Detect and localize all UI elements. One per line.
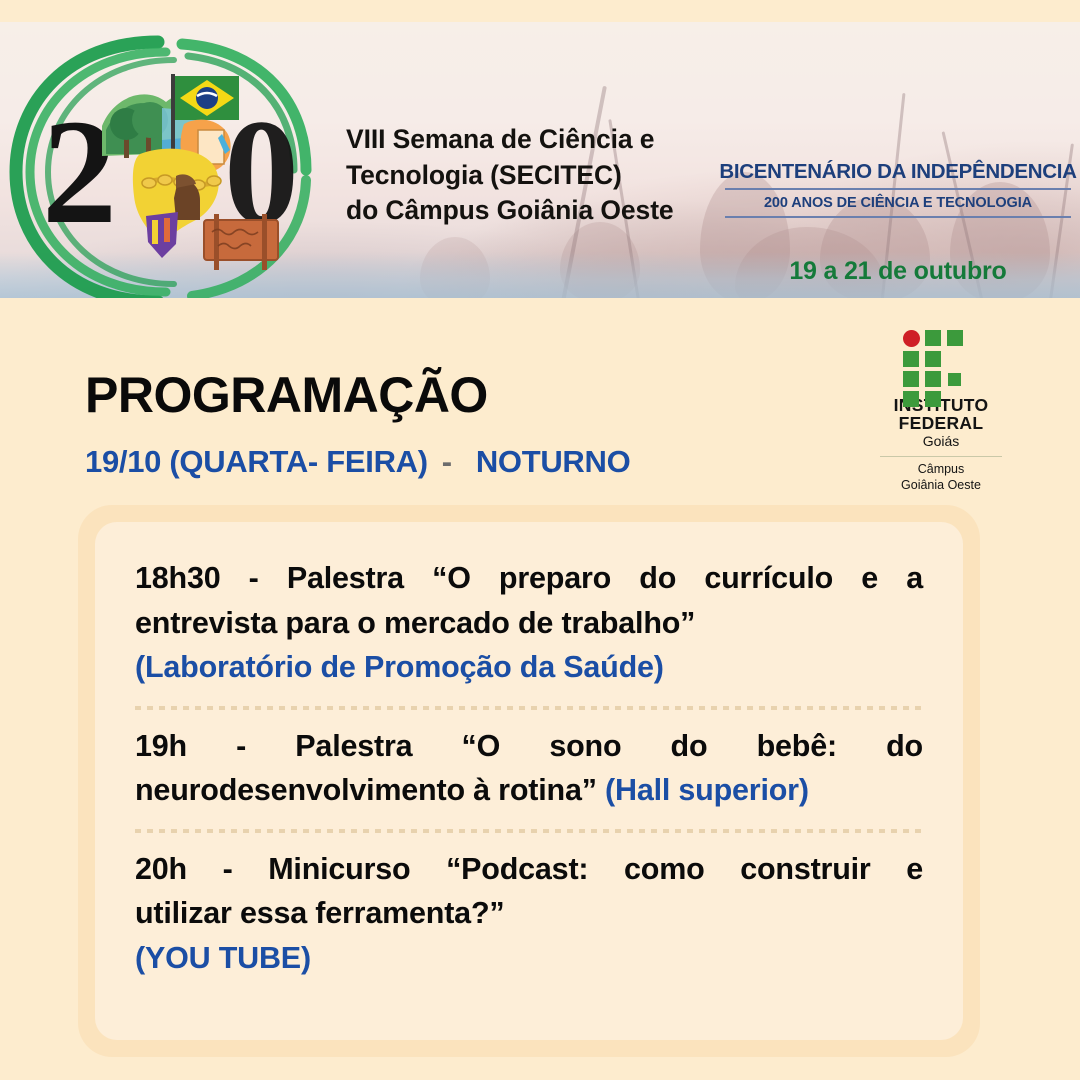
event-title: VIII Semana de Ciência e Tecnologia (SEC… (346, 122, 718, 229)
event-title-line-1: VIII Semana de Ciência e (346, 122, 718, 158)
schedule-entry-location: (Hall superior) (605, 773, 809, 807)
if-logo-campus-line-1: Câmpus (876, 461, 1006, 477)
schedule-entry-location: (Laboratório de Promoção da Saúde) (135, 645, 923, 690)
if-logo-square (925, 351, 941, 367)
schedule-day-subtitle: 19/10 (QUARTA- FEIRA)-NOTURNO (85, 444, 630, 480)
bicentennial-subline: 200 ANOS DE CIÊNCIA E TECNOLOGIA (713, 195, 1080, 211)
subtitle-date: 19/10 (QUARTA- FEIRA) (85, 444, 428, 479)
if-logo-square (903, 371, 919, 387)
event-date-range: 19 a 21 de outubro (713, 257, 1080, 286)
subtitle-period: NOTURNO (466, 444, 631, 479)
schedule-entry-main-line: 20h - Minicurso “Podcast: como construir… (135, 847, 923, 892)
schedule-entry[interactable]: 20h - Minicurso “Podcast: como construir… (135, 847, 923, 981)
schedule-card: 18h30 - Palestra “O preparo do currículo… (78, 505, 980, 1057)
schedule-entry-second-line: entrevista para o mercado de trabalho” (135, 601, 923, 646)
if-logo-square (925, 391, 941, 407)
schedule-entry-location: (YOU TUBE) (135, 936, 923, 981)
if-logo-square (925, 371, 941, 387)
schedule-entry-main-line: 19h - Palestra “O sono do bebê: do (135, 724, 923, 769)
schedule-entry-second-line: neurodesenvolvimento à rotina” (Hall sup… (135, 768, 923, 813)
schedule-divider (135, 706, 923, 710)
event-title-line-3: do Câmpus Goiânia Oeste (346, 193, 718, 229)
top-cream-strip (0, 0, 1080, 22)
if-logo-mark (903, 330, 979, 388)
if-logo-name-line-1: INSTITUTO (876, 396, 1006, 414)
bicentennial-block: BICENTENÁRIO DA INDEPÊNDENCIA 200 ANOS D… (713, 160, 1080, 218)
header-banner: 2 0 (0, 22, 1080, 298)
if-logo-state: Goiás (876, 433, 1006, 451)
if-logo-divider (880, 456, 1002, 458)
svg-text:2: 2 (42, 89, 117, 255)
schedule-entry-second-line: utilizar essa ferramenta?” (135, 891, 923, 936)
if-logo-square-small (948, 373, 961, 386)
if-logo-square (903, 351, 919, 367)
bicentennial-rule-bottom (725, 216, 1071, 218)
schedule-entry-main-line: 18h30 - Palestra “O preparo do currículo… (135, 556, 923, 601)
if-logo-square (903, 391, 919, 407)
if-logo-square (947, 330, 963, 346)
schedule-divider (135, 829, 923, 833)
schedule-entry[interactable]: 19h - Palestra “O sono do bebê: do neuro… (135, 724, 923, 813)
schedule-card-inner: 18h30 - Palestra “O preparo do currículo… (95, 522, 963, 1040)
subtitle-separator: - (428, 444, 466, 479)
if-logo-square (925, 330, 941, 346)
schedule-entry[interactable]: 18h30 - Palestra “O preparo do currículo… (135, 556, 923, 690)
bicentennial-rule-top (725, 188, 1071, 190)
event-title-line-2: Tecnologia (SECITEC) (346, 158, 718, 194)
if-logo-campus-line-2: Goiânia Oeste (876, 477, 1006, 493)
instituto-federal-logo: INSTITUTO FEDERAL Goiás Câmpus Goiânia O… (876, 330, 1006, 493)
schedule-entry-second-line-text: neurodesenvolvimento à rotina” (135, 773, 597, 807)
if-logo-name-line-2: FEDERAL (876, 414, 1006, 432)
page-title: PROGRAMAÇÃO (85, 366, 488, 424)
secitec-200-emblem: 2 0 (6, 30, 324, 298)
bicentennial-headline: BICENTENÁRIO DA INDEPÊNDENCIA (713, 160, 1080, 184)
if-logo-red-dot (903, 330, 920, 347)
